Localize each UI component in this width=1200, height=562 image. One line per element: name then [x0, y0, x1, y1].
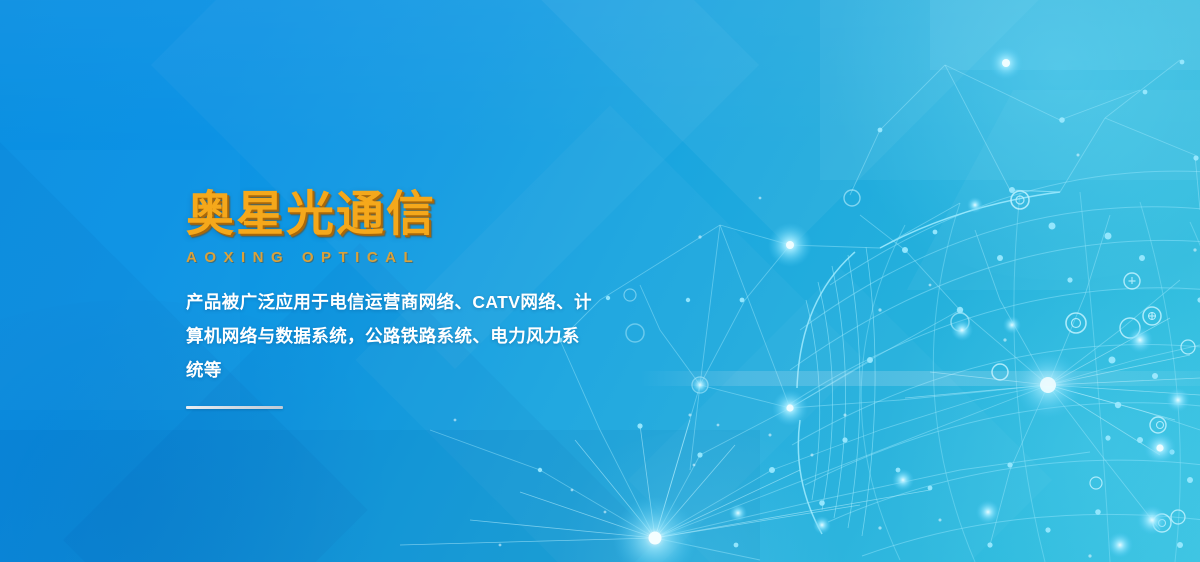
brand-title: 奥星光通信	[186, 188, 616, 242]
banner-description: 产品被广泛应用于电信运营商网络、CATV网络、计算机网络与数据系统，公路铁路系统…	[186, 285, 596, 387]
network-node-icon	[613, 46, 1190, 562]
banner-content: 奥星光通信 AOXING OPTICAL 产品被广泛应用于电信运营商网络、CAT…	[186, 188, 616, 409]
brand-subtitle: AOXING OPTICAL	[186, 249, 616, 266]
highlight-band	[640, 371, 1200, 386]
hero-banner: 奥星光通信 AOXING OPTICAL 产品被广泛应用于电信运营商网络、CAT…	[0, 0, 1200, 562]
divider-rule	[186, 406, 283, 409]
